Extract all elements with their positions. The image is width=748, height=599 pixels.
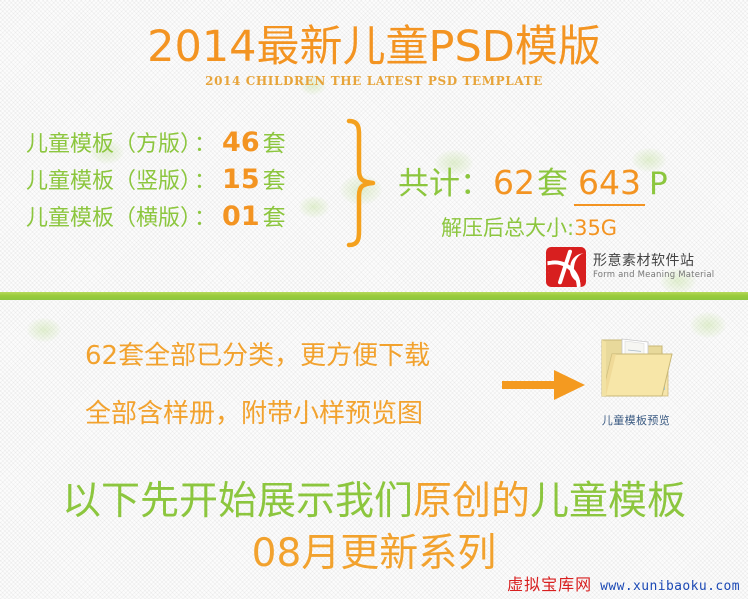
watermark-url: www.xunibaoku.com (600, 579, 740, 594)
spec-colon: ： (191, 132, 219, 157)
folder-icon[interactable] (592, 330, 680, 410)
bottom-headline-line1: 以下先开始展示我们原创的儿童模板 (0, 478, 748, 526)
folder-label: 儿童模板预览 (588, 412, 684, 428)
arrow-right-icon (502, 368, 586, 402)
spec-count: 15 (219, 164, 263, 195)
watermark-site-name: 虚拟宝库网 (507, 571, 592, 595)
size-label: 解压后总大小: (441, 216, 574, 240)
headline-part-1: 以下先开始展示我们 (62, 479, 413, 524)
headline-part-3: 儿童模板 (530, 479, 686, 524)
total-pages-unit: P (645, 166, 668, 202)
spec-label: 儿童模板（横版） (26, 206, 191, 231)
brand-mark-icon (546, 247, 586, 287)
decorative-leaf (690, 312, 726, 338)
spec-unit: 套 (263, 131, 286, 157)
poster-subtitle: 2014 CHILDREN THE LATEST PSD TEMPLATE (0, 74, 748, 88)
feature-line: 62套全部已分类，更方便下载 (85, 340, 430, 372)
total-count: 62 (491, 163, 537, 202)
folder-preview[interactable]: 儿童模板预览 (588, 330, 684, 428)
headline-part-2: 原创的 (413, 479, 530, 524)
decorative-leaf (27, 318, 61, 342)
total-unit: 套 (537, 166, 568, 202)
template-spec-list: 儿童模板（方版）：46套 儿童模板（竖版）：15套 儿童模板（横版）：01套 (26, 124, 346, 235)
spec-label: 儿童模板（竖版） (26, 169, 191, 194)
brand-name-en: Form and Meaning Material (593, 271, 714, 280)
brand-name-cn: 形意素材软件站 (593, 254, 714, 269)
spec-row: 儿童模板（方版）：46套 (26, 124, 346, 161)
poster-title: 2014最新儿童PSD模版 (0, 22, 748, 72)
spec-unit: 套 (263, 168, 286, 194)
spec-colon: ： (191, 169, 219, 194)
spec-count: 01 (219, 201, 263, 232)
unpacked-size-note: 解压后总大小:35G (441, 215, 617, 241)
watermark: 虚拟宝库网 www.xunibaoku.com (507, 571, 740, 595)
spec-count: 46 (219, 127, 263, 158)
curly-brace-icon (343, 118, 383, 248)
section-divider (0, 292, 748, 300)
brand-logo: 形意素材软件站 Form and Meaning Material (546, 247, 714, 287)
spec-row: 儿童模板（横版）：01套 (26, 198, 346, 235)
spec-row: 儿童模板（竖版）：15套 (26, 161, 346, 198)
poster-canvas: 2014最新儿童PSD模版 2014 CHILDREN THE LATEST P… (0, 0, 748, 599)
total-label: 共计： (398, 166, 491, 202)
feature-line: 全部含样册，附带小样预览图 (85, 398, 423, 430)
total-pages: 643 (574, 163, 645, 206)
brand-text: 形意素材软件站 Form and Meaning Material (593, 254, 714, 281)
spec-label: 儿童模板（方版） (26, 132, 191, 157)
spec-colon: ： (191, 206, 219, 231)
size-value: 35G (574, 216, 617, 240)
spec-unit: 套 (263, 205, 286, 231)
total-summary: 共计：62套643P (398, 163, 668, 204)
